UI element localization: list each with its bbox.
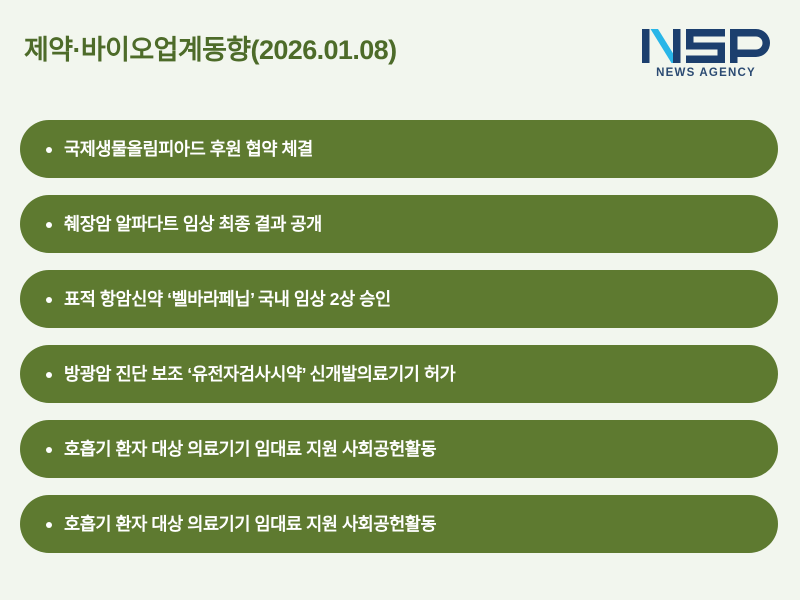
nsp-logo: NEWS AGENCY [640, 26, 772, 82]
bullet-item-label: 호흡기 환자 대상 의료기기 임대료 지원 사회공헌활동 [64, 439, 756, 460]
slide-header: 제약·바이오업계동향(2026.01.08) NEWS AGENCY [0, 0, 800, 110]
page-title: 제약·바이오업계동향(2026.01.08) [24, 36, 396, 66]
bullet-item-label: 호흡기 환자 대상 의료기기 임대료 지원 사회공헌활동 [64, 514, 756, 535]
bullet-item-4[interactable]: 방광암 진단 보조 ‘유전자검사시약’ 신개발의료기기 허가 [20, 345, 778, 403]
bullet-dot-icon [46, 447, 52, 453]
bullet-dot-icon [46, 147, 52, 153]
bullet-item-label: 국제생물올림피아드 후원 협약 체결 [64, 139, 756, 160]
bullet-dot-icon [46, 222, 52, 228]
bullet-dot-icon [46, 522, 52, 528]
nsp-wordmark-icon [640, 26, 772, 66]
bullet-item-label: 표적 항암신약 ‘벨바라페닙’ 국내 임상 2상 승인 [64, 289, 756, 310]
bullet-item-5[interactable]: 호흡기 환자 대상 의료기기 임대료 지원 사회공헌활동 [20, 420, 778, 478]
slide-canvas: 제약·바이오업계동향(2026.01.08) NEWS AGENCY 국제생물올… [0, 0, 800, 600]
bullet-list: 국제생물올림피아드 후원 협약 체결 췌장암 알파다트 임상 최종 결과 공개 … [20, 120, 778, 553]
bullet-dot-icon [46, 297, 52, 303]
bullet-item-label: 췌장암 알파다트 임상 최종 결과 공개 [64, 214, 756, 235]
bullet-item-label: 방광암 진단 보조 ‘유전자검사시약’ 신개발의료기기 허가 [64, 364, 756, 385]
bullet-item-3[interactable]: 표적 항암신약 ‘벨바라페닙’ 국내 임상 2상 승인 [20, 270, 778, 328]
bullet-item-2[interactable]: 췌장암 알파다트 임상 최종 결과 공개 [20, 195, 778, 253]
bullet-item-6[interactable]: 호흡기 환자 대상 의료기기 임대료 지원 사회공헌활동 [20, 495, 778, 553]
bullet-dot-icon [46, 372, 52, 378]
nsp-logo-tagline: NEWS AGENCY [640, 67, 772, 79]
bullet-item-1[interactable]: 국제생물올림피아드 후원 협약 체결 [20, 120, 778, 178]
